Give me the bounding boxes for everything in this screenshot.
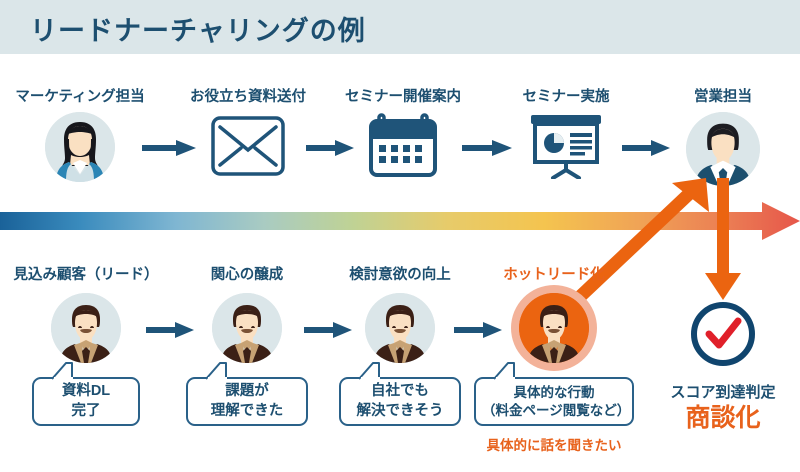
gradient-right-arrow-icon — [0, 202, 800, 240]
bottom-step-label-4: ホットリード化 — [503, 263, 605, 284]
male-sales-avatar-icon — [686, 112, 760, 186]
bottom-step-label-3: 検討意欲の向上 — [349, 263, 451, 284]
check-circle-icon — [688, 299, 758, 369]
hot-lead-note: 具体的に話を聞きたい — [487, 434, 622, 454]
top-step-label-4: セミナー実施 — [523, 85, 610, 106]
calendar-icon — [369, 113, 437, 177]
top-flow-arrow-2 — [306, 140, 354, 156]
bubble-tail-1 — [50, 362, 74, 380]
hot-lead-avatar-icon — [519, 293, 589, 363]
lead-avatar-icon-2 — [212, 293, 282, 363]
top-flow-arrow-4 — [622, 140, 670, 156]
bubble-text-3: 自社でも 解決できそう — [357, 382, 444, 420]
female-avatar-icon — [45, 112, 115, 182]
bottom-flow-arrow-3 — [454, 322, 502, 338]
top-step-label-1: マーケティング担当 — [15, 85, 144, 106]
bubble-tail-2 — [204, 362, 228, 380]
bubble-3: 自社でも 解決できそう — [339, 377, 461, 426]
bottom-flow-arrow-2 — [304, 322, 352, 338]
lead-avatar-icon-1 — [51, 293, 121, 363]
bubble-text-4: 具体的な行動 （料金ページ閲覧など） — [482, 384, 626, 420]
top-step-label-5: 営業担当 — [694, 85, 752, 106]
bubble-text-2: 課題が 理解できた — [211, 382, 284, 420]
deal-label: 商談化 — [685, 398, 760, 434]
bubble-text-1: 資料DL 完了 — [62, 382, 110, 420]
page-title: リードナーチャリングの例 — [30, 9, 366, 48]
bubble-tail-3 — [357, 362, 381, 380]
bottom-step-label-2: 関心の醸成 — [211, 263, 284, 284]
bottom-flow-arrow-1 — [146, 322, 194, 338]
bubble-1: 資料DL 完了 — [32, 377, 140, 426]
top-flow-arrow-3 — [462, 140, 512, 156]
lead-avatar-icon-3 — [365, 293, 435, 363]
presentation-chart-icon — [528, 113, 604, 179]
bubble-4: 具体的な行動 （料金ページ閲覧など） — [474, 377, 634, 426]
top-step-label-3: セミナー開催案内 — [345, 85, 461, 106]
envelope-icon — [211, 116, 285, 176]
bottom-step-label-1: 見込み顧客（リード） — [14, 263, 159, 284]
top-flow-arrow-1 — [142, 140, 196, 156]
bubble-tail-4 — [492, 362, 516, 380]
diagram-canvas: リードナーチャリングの例 マーケティング担当 お役立ち資料送付 セミナー開催案内… — [0, 0, 800, 472]
top-step-label-2: お役立ち資料送付 — [190, 85, 306, 106]
bubble-2: 課題が 理解できた — [186, 377, 308, 426]
